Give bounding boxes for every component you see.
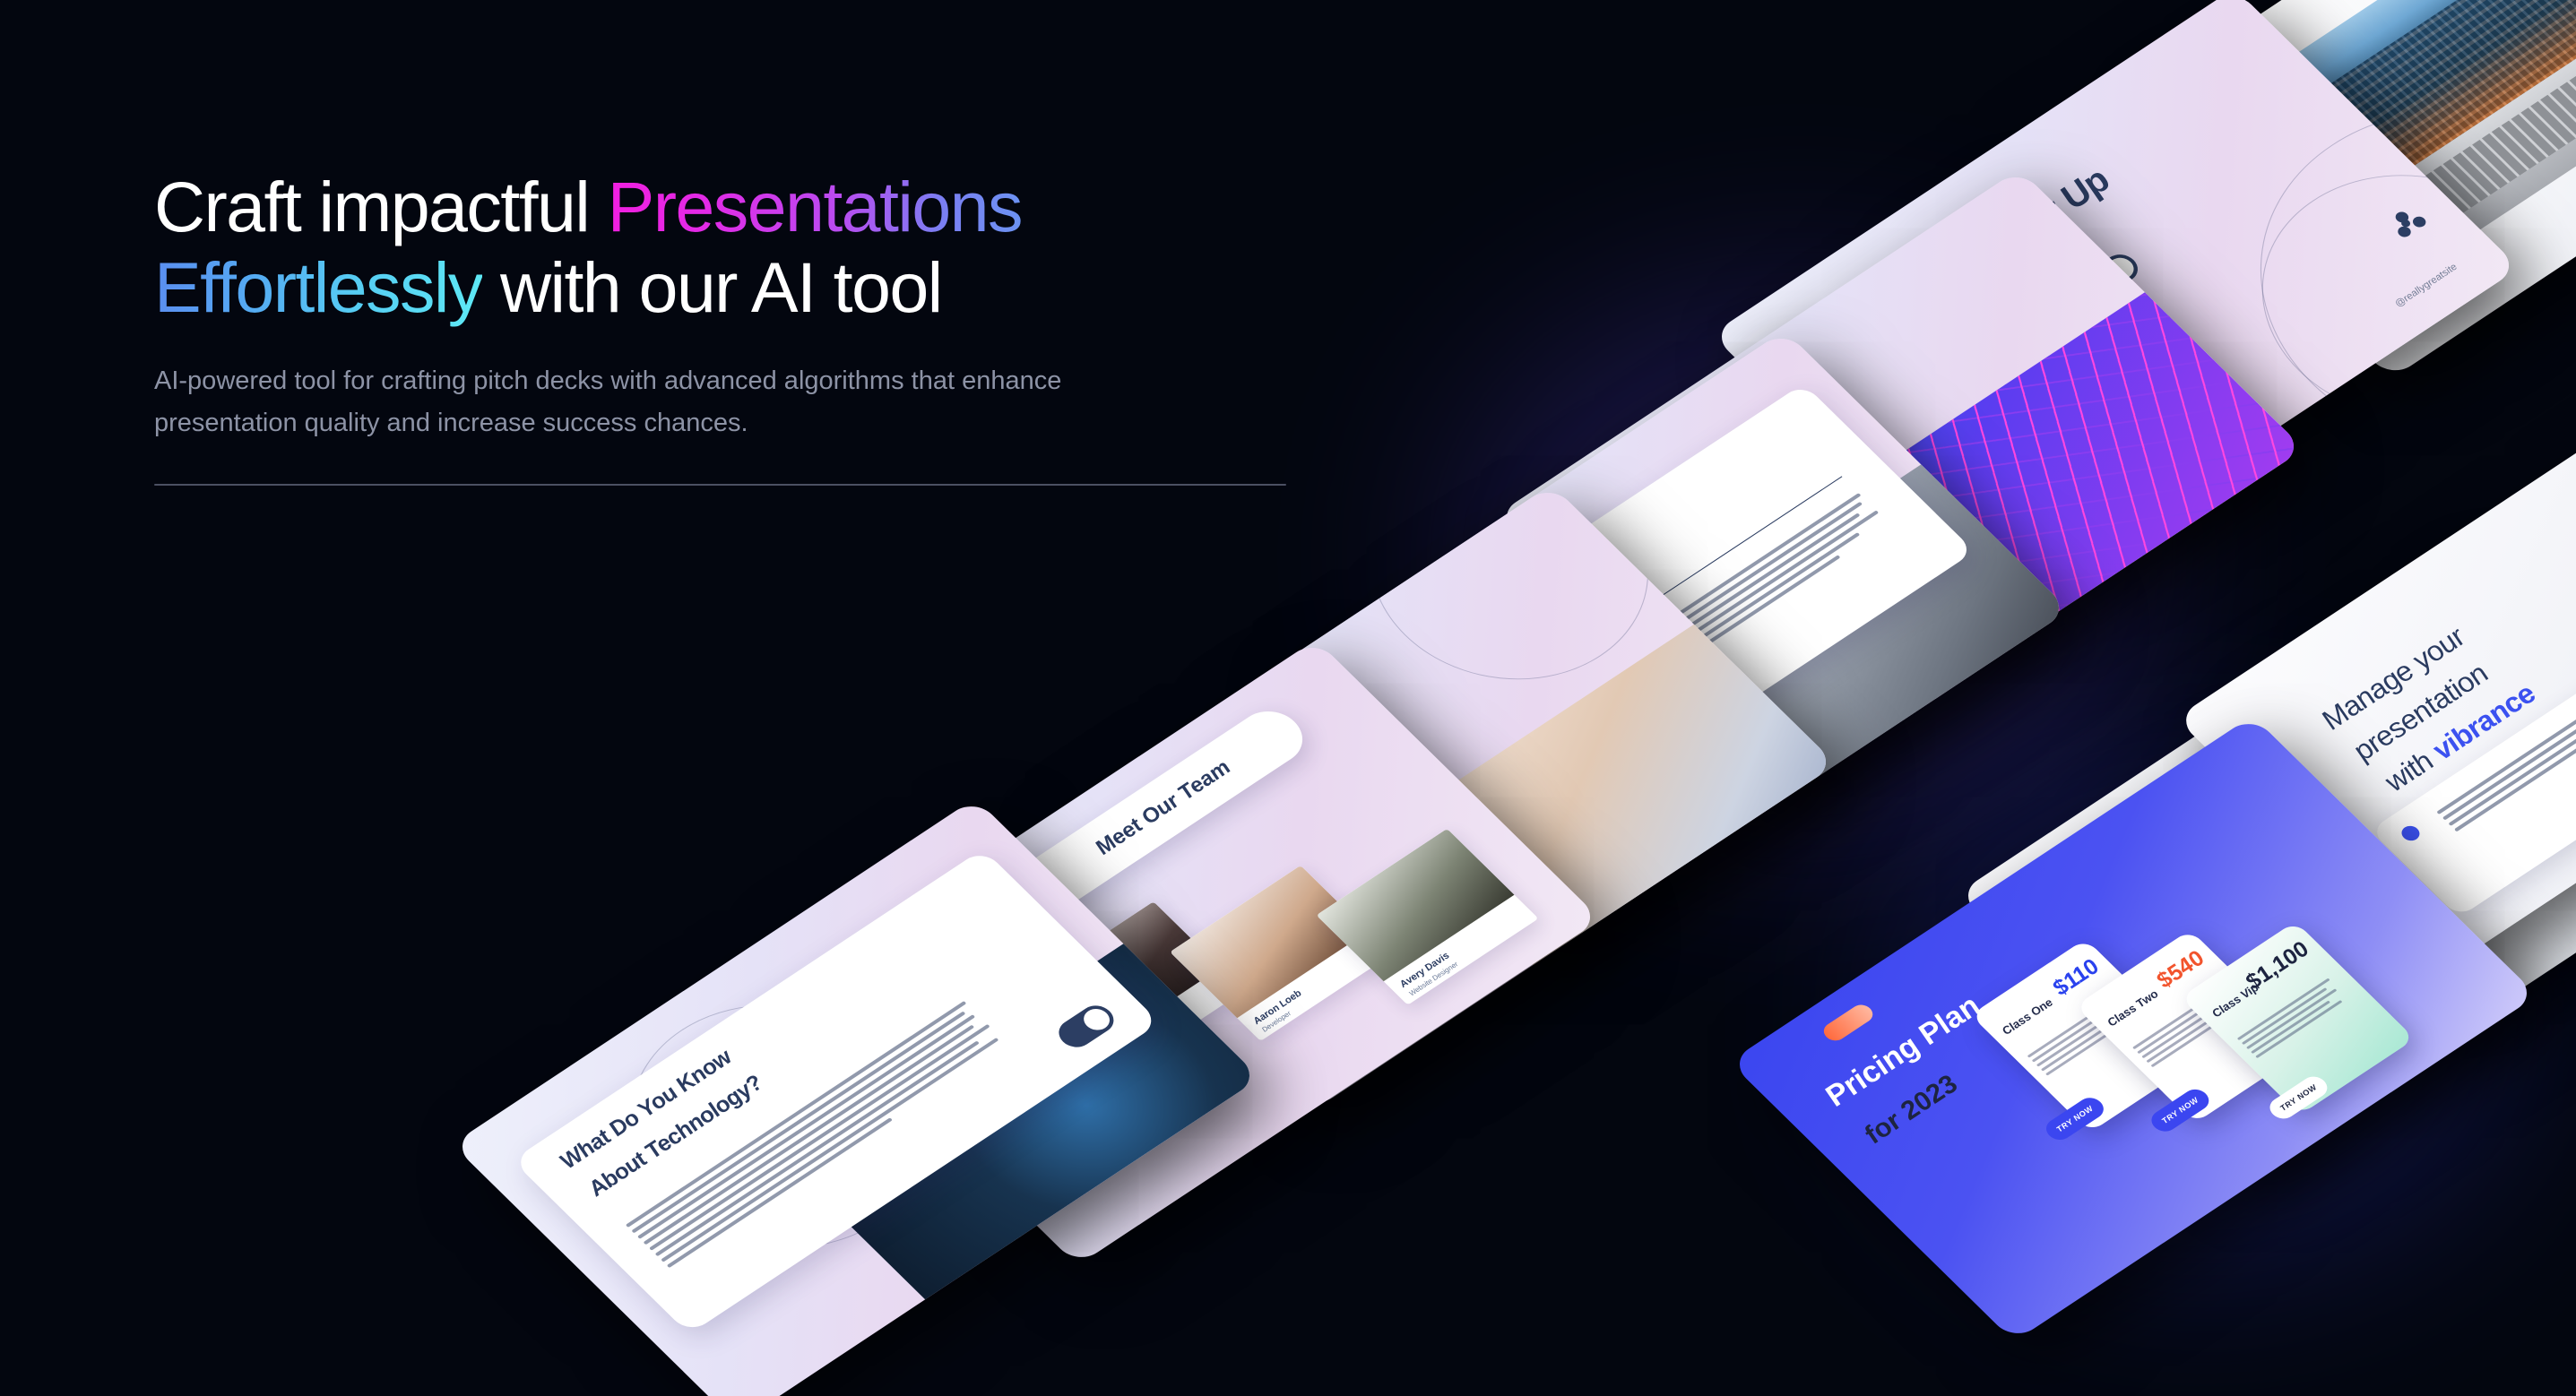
plan-price: $1,100 [2240,938,2316,995]
hero-divider [154,484,1286,486]
headline-accent-presentations: Presentations [608,167,1022,246]
headline-suffix: with our AI tool [482,247,942,327]
subcopy-line-1: AI-powered tool for crafting pitch decks… [154,360,1266,402]
toggle-switch-icon[interactable] [1051,1001,1119,1054]
headline-line-2: Effortlessly with our AI tool [154,247,1310,328]
plan-name: Class One [1999,996,2056,1038]
info-icon [2399,823,2424,844]
page-title: Craft impactful Presentations Effortless… [154,167,1310,328]
hero-section: Craft impactful Presentations Effortless… [154,167,1310,486]
headline-prefix: Craft impactful [154,167,608,246]
headline-accent-effortlessly: Effortlessly [154,247,482,327]
slide-title-line1: Pricing Plan [1817,991,1989,1113]
decorative-pill [1820,1002,1877,1045]
headline-line-1: Craft impactful Presentations [154,167,1310,247]
subcopy-line-2: presentation quality and increase succes… [154,402,1266,444]
hero-subcopy: AI-powered tool for crafting pitch decks… [154,360,1266,444]
plan-name: Class Two [2104,987,2161,1029]
